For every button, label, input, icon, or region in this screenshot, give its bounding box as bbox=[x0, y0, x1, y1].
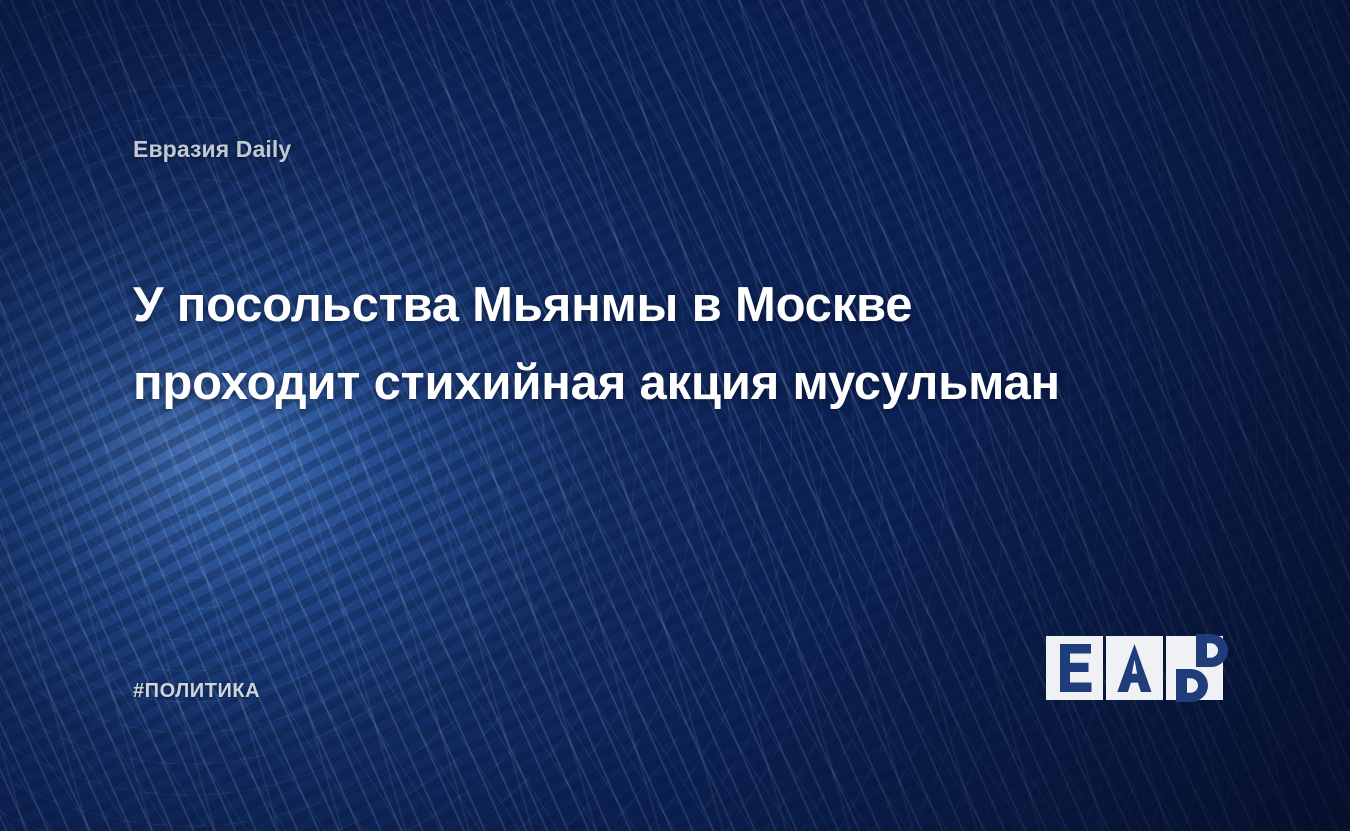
headline-line-2: проходит стихийная акция мусульман bbox=[133, 344, 1193, 422]
category-hashtag: #ПОЛИТИКА bbox=[133, 680, 260, 703]
logo-letter-d-icon bbox=[1166, 636, 1223, 700]
headline-line-1: У посольства Мьянмы в Москве bbox=[133, 266, 1193, 344]
headline: У посольства Мьянмы в Москве проходит ст… bbox=[133, 266, 1193, 422]
logo-tile-a bbox=[1106, 636, 1163, 700]
logo-letter-e-icon bbox=[1046, 636, 1103, 700]
brand-wordmark: Евразия Daily bbox=[133, 136, 291, 163]
logo-tile-e bbox=[1046, 636, 1103, 700]
logo-tile-d bbox=[1166, 636, 1223, 700]
eadaily-logo bbox=[1046, 636, 1223, 700]
card-content: Евразия Daily У посольства Мьянмы в Моск… bbox=[0, 0, 1350, 831]
logo-letter-a-icon bbox=[1106, 636, 1163, 700]
social-share-card: Евразия Daily У посольства Мьянмы в Моск… bbox=[0, 0, 1350, 831]
